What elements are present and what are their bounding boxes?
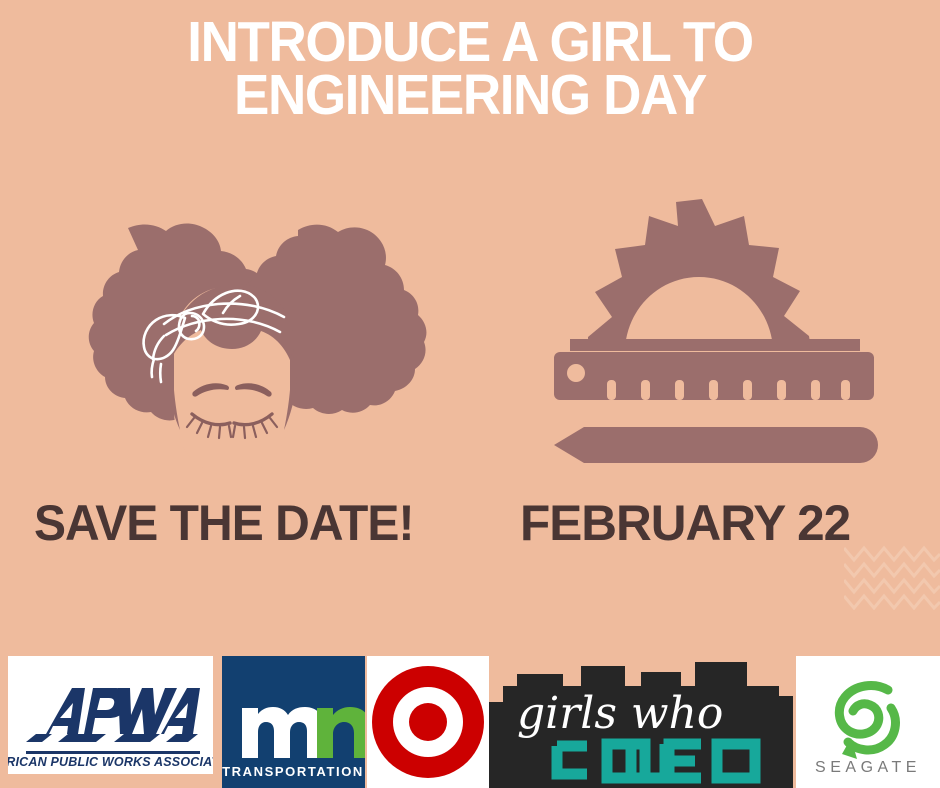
seagate-logo-icon: SEAGATE (796, 656, 940, 788)
event-date-text: FEBRUARY 22 (520, 498, 850, 548)
sponsor-logo-seagate: SEAGATE (796, 656, 940, 788)
seagate-wordmark: SEAGATE (815, 759, 921, 776)
sponsor-logo-strip: AMERICAN PUBLIC WORKS ASSOCIATION TRANSP… (0, 656, 940, 788)
gwc-script-wordmark: girls who (517, 688, 723, 739)
tools-illustration (528, 192, 900, 477)
sponsor-logo-mndot: TRANSPORTATION (222, 656, 365, 788)
mndot-logo-icon: TRANSPORTATION (222, 656, 365, 788)
sponsor-logo-target (367, 656, 489, 788)
girls-who-code-logo-icon: girls who (489, 656, 793, 788)
save-the-date-text: SAVE THE DATE! (34, 498, 413, 548)
gear-ruler-pencil-icon (528, 192, 900, 477)
sponsor-logo-apwa: AMERICAN PUBLIC WORKS ASSOCIATION (8, 656, 213, 774)
zigzag-decoration (844, 540, 940, 610)
target-bullseye-icon (367, 656, 489, 788)
girl-afro-puffs-icon (22, 196, 442, 476)
apwa-logo-icon: AMERICAN PUBLIC WORKS ASSOCIATION (8, 656, 213, 774)
poster: INTRODUCE A GIRL TO ENGINEERING DAY (0, 0, 940, 788)
mndot-tagline: TRANSPORTATION (222, 764, 364, 779)
sponsor-logo-girls-who-code: girls who (489, 656, 793, 788)
page-title: INTRODUCE A GIRL TO ENGINEERING DAY (33, 16, 907, 122)
girl-illustration (22, 196, 442, 476)
apwa-tagline: AMERICAN PUBLIC WORKS ASSOCIATION (8, 755, 213, 769)
